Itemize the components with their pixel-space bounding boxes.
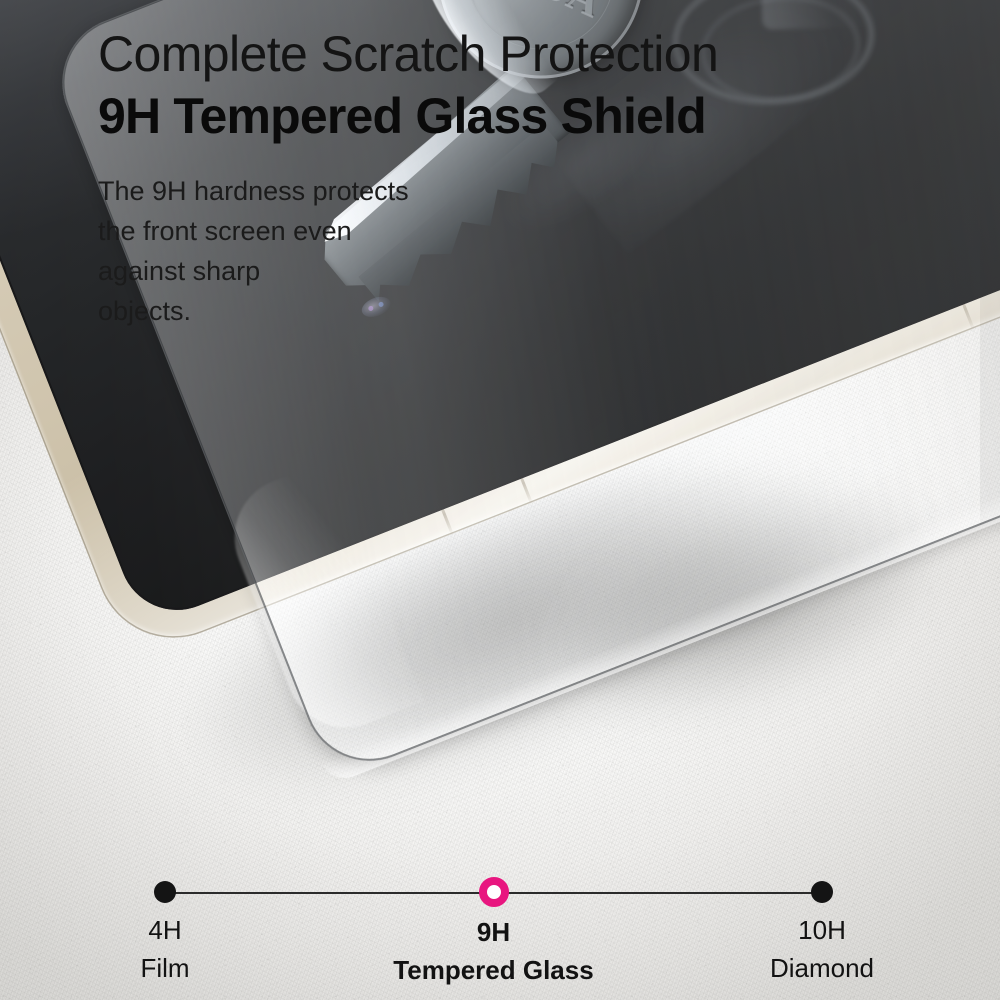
hardness-grade-label: 9H — [477, 917, 510, 948]
headline-line-2: 9H Tempered Glass Shield — [0, 88, 1000, 144]
body-copy-line-3: against sharp — [98, 252, 528, 292]
body-copy-line-2: the front screen even — [98, 212, 528, 252]
hardness-material-label: Film — [140, 953, 189, 984]
hardness-scale: 4HFilm9HTempered Glass10HDiamond — [0, 850, 1000, 1000]
hardness-marker — [811, 881, 833, 903]
hardness-marker — [154, 881, 176, 903]
body-copy: The 9H hardness protects the front scree… — [0, 172, 528, 332]
hardness-material-label: Tempered Glass — [393, 955, 593, 986]
copy-block: Complete Scratch Protection 9H Tempered … — [0, 0, 1000, 332]
hardness-marker-active — [479, 877, 509, 907]
hardness-grade-label: 10H — [798, 915, 846, 946]
hardness-stop-10h: 10HDiamond — [811, 881, 833, 903]
hardness-stop-9h: 9HTempered Glass — [479, 877, 509, 907]
hardness-material-label: Diamond — [770, 953, 874, 984]
product-feature-image: CESA — [0, 0, 1000, 1000]
body-copy-line-1: The 9H hardness protects — [98, 172, 528, 212]
body-copy-line-4: objects. — [98, 292, 528, 332]
headline-line-1: Complete Scratch Protection — [0, 26, 1000, 82]
hardness-stop-4h: 4HFilm — [154, 881, 176, 903]
hardness-grade-label: 4H — [148, 915, 181, 946]
